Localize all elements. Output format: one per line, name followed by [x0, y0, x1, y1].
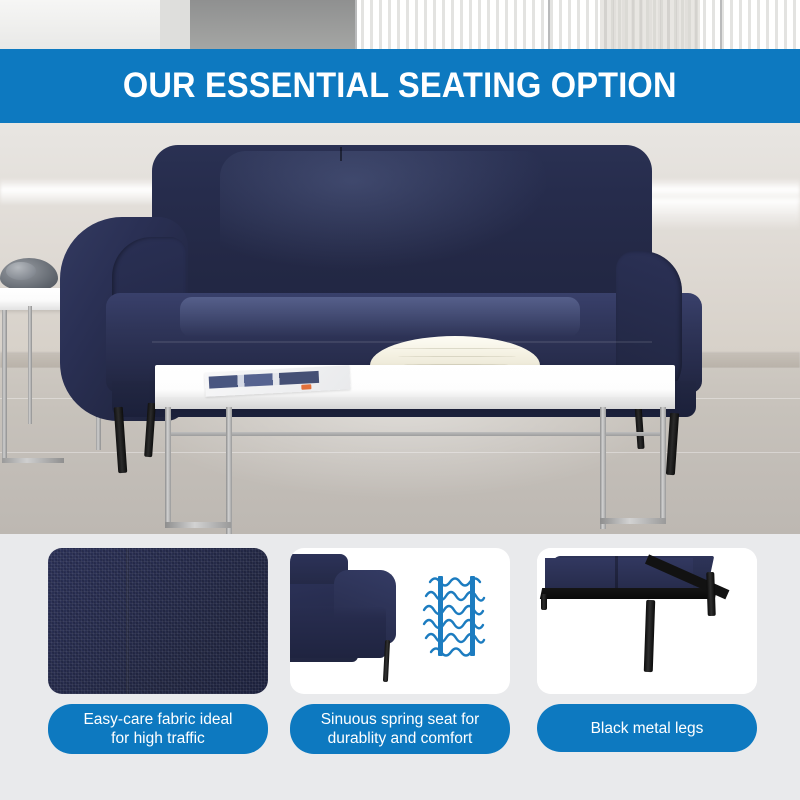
background-mullion — [355, 0, 357, 52]
coffee-table-leg — [165, 407, 171, 527]
black-metal-leg — [706, 572, 716, 616]
legs-detail-scene — [537, 548, 757, 694]
background-mullion — [548, 0, 550, 52]
fabric-texture — [48, 548, 268, 694]
page-title: OUR ESSENTIAL SEATING OPTION — [123, 66, 677, 106]
background-panel-left — [0, 0, 160, 52]
fabric-swatch-image — [48, 548, 268, 694]
caption-text: Easy-care fabric idealfor high traffic — [83, 710, 232, 748]
decor-object-highlight — [6, 262, 36, 280]
feature-card-legs[interactable]: Black metal legs — [537, 548, 757, 752]
sofa-leg-detail — [383, 640, 390, 682]
coffee-table-edge — [155, 397, 675, 409]
sofa-backrest-highlight — [220, 151, 550, 271]
black-metal-leg — [644, 600, 656, 672]
sofa-seat-detail — [290, 606, 386, 658]
sofa-underside-seam — [615, 556, 618, 590]
coffee-table-rail — [165, 432, 665, 436]
coffee-table-leg — [226, 407, 232, 534]
sofa-seat-highlight — [180, 297, 580, 337]
feature-cards-section: Easy-care fabric idealfor high traffic — [0, 534, 800, 800]
feature-card-springs[interactable]: Sinuous spring seat fordurablity and com… — [290, 548, 510, 754]
caption-line: durablity and comfort — [321, 729, 480, 748]
product-feature-page: OUR ESSENTIAL SEATING OPTION Easy-care f… — [0, 0, 800, 800]
bowl-ridge — [392, 348, 520, 349]
side-table-rail — [2, 458, 64, 463]
caption-line: Sinuous spring seat for — [321, 710, 480, 729]
navy-sofa — [60, 145, 740, 465]
feature-caption-legs: Black metal legs — [537, 704, 757, 752]
background-dark-panel — [190, 0, 355, 52]
sofa-arm-detail — [290, 554, 410, 672]
background-blinds-secondary — [600, 0, 700, 52]
black-metal-leg — [541, 594, 547, 610]
coffee-table-leg — [600, 407, 606, 529]
headline-banner: OUR ESSENTIAL SEATING OPTION — [0, 49, 800, 123]
side-table-leg — [28, 306, 32, 424]
caption-line: for high traffic — [83, 729, 232, 748]
background-panel-divider — [160, 0, 190, 52]
caption-line: Black metal legs — [591, 719, 704, 738]
coffee-table-foot-rail — [600, 518, 666, 524]
background-blinds — [355, 0, 800, 52]
background-mullion — [720, 0, 722, 52]
feature-caption-fabric: Easy-care fabric idealfor high traffic — [48, 704, 268, 754]
feature-caption-springs: Sinuous spring seat fordurablity and com… — [290, 704, 510, 754]
feature-card-fabric[interactable]: Easy-care fabric idealfor high traffic — [48, 548, 268, 754]
sinuous-spring-icon — [418, 568, 494, 664]
caption-text: Sinuous spring seat fordurablity and com… — [321, 710, 480, 748]
sofa-seam — [340, 147, 342, 161]
metal-frame-rail — [540, 588, 717, 599]
caption-line: Easy-care fabric ideal — [83, 710, 232, 729]
side-table-leg — [2, 310, 7, 460]
sinuous-spring-image — [290, 548, 510, 694]
bowl-ridge — [398, 356, 516, 357]
coffee-table-foot-rail — [165, 522, 231, 528]
coffee-table-leg — [660, 407, 666, 521]
black-metal-legs-image — [537, 548, 757, 694]
fabric-seam — [126, 548, 129, 694]
caption-text: Black metal legs — [591, 719, 704, 738]
magazine-accent — [301, 384, 311, 390]
